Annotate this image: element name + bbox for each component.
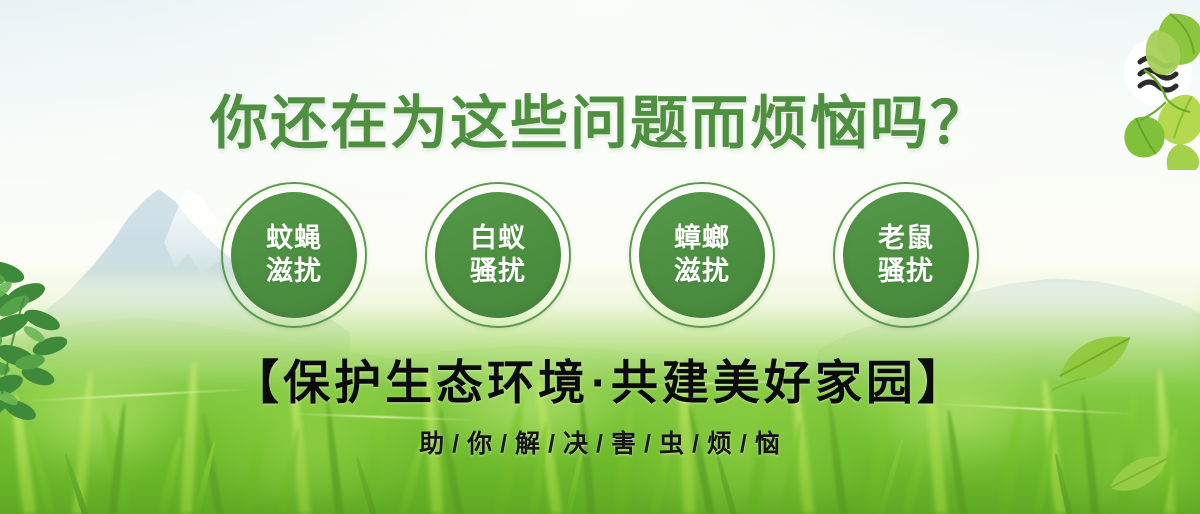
subtitle: 助/你/解/决/害/虫/烦/恼 — [0, 424, 1200, 460]
subtitle-separator: / — [541, 430, 563, 458]
badge-label-line1: 蟑螂 — [674, 223, 730, 254]
slogan: 【保护生态环境·共建美好家园】 — [0, 344, 1200, 413]
subtitle-item: 解 — [515, 430, 541, 458]
subtitle-item: 你 — [467, 430, 493, 458]
badge-label-line2: 骚扰 — [878, 256, 934, 287]
subtitle-separator: / — [589, 430, 611, 458]
badge-body: 老鼠 骚扰 — [843, 192, 969, 318]
badge-body: 蚊蝇 滋扰 — [231, 192, 357, 318]
subtitle-item: 烦 — [707, 430, 733, 458]
badge-label-line2: 滋扰 — [266, 256, 322, 287]
badge-cockroach-nuisance[interactable]: 蟑螂 滋扰 — [629, 182, 775, 328]
slogan-part-1: 保护生态环境 — [283, 356, 589, 409]
subtitle-item: 害 — [611, 430, 637, 458]
slogan-separator: · — [589, 356, 611, 409]
page-title: 你还在为这些问题而烦恼吗？ — [0, 76, 1200, 160]
subtitle-item: 虫 — [659, 430, 685, 458]
subtitle-separator: / — [733, 430, 755, 458]
badge-label-line1: 蚊蝇 — [266, 223, 322, 254]
slogan-bracket-open: 【 — [232, 356, 283, 409]
eco-pest-control-banner: 你还在为这些问题而烦恼吗？ 蚊蝇 滋扰 白蚁 骚扰 蟑螂 滋扰 老鼠 骚扰 — [0, 0, 1200, 514]
subtitle-separator: / — [445, 430, 467, 458]
badge-label-line1: 老鼠 — [878, 223, 934, 254]
badge-termite-nuisance[interactable]: 白蚁 骚扰 — [425, 182, 571, 328]
badge-label-line1: 白蚁 — [470, 223, 526, 254]
badge-rodent-nuisance[interactable]: 老鼠 骚扰 — [833, 182, 979, 328]
subtitle-item: 助 — [419, 430, 445, 458]
badge-label-line2: 滋扰 — [674, 256, 730, 287]
badge-body: 蟑螂 滋扰 — [639, 192, 765, 318]
subtitle-separator: / — [685, 430, 707, 458]
pest-problem-badges: 蚊蝇 滋扰 白蚁 骚扰 蟑螂 滋扰 老鼠 骚扰 — [0, 182, 1200, 328]
subtitle-separator: / — [637, 430, 659, 458]
slogan-bracket-close: 】 — [917, 356, 968, 409]
subtitle-separator: / — [493, 430, 515, 458]
badge-label-line2: 骚扰 — [470, 256, 526, 287]
badge-mosquito-fly-nuisance[interactable]: 蚊蝇 滋扰 — [221, 182, 367, 328]
slogan-part-2: 共建美好家园 — [611, 356, 917, 409]
subtitle-item: 决 — [563, 430, 589, 458]
subtitle-item: 恼 — [755, 430, 781, 458]
badge-body: 白蚁 骚扰 — [435, 192, 561, 318]
